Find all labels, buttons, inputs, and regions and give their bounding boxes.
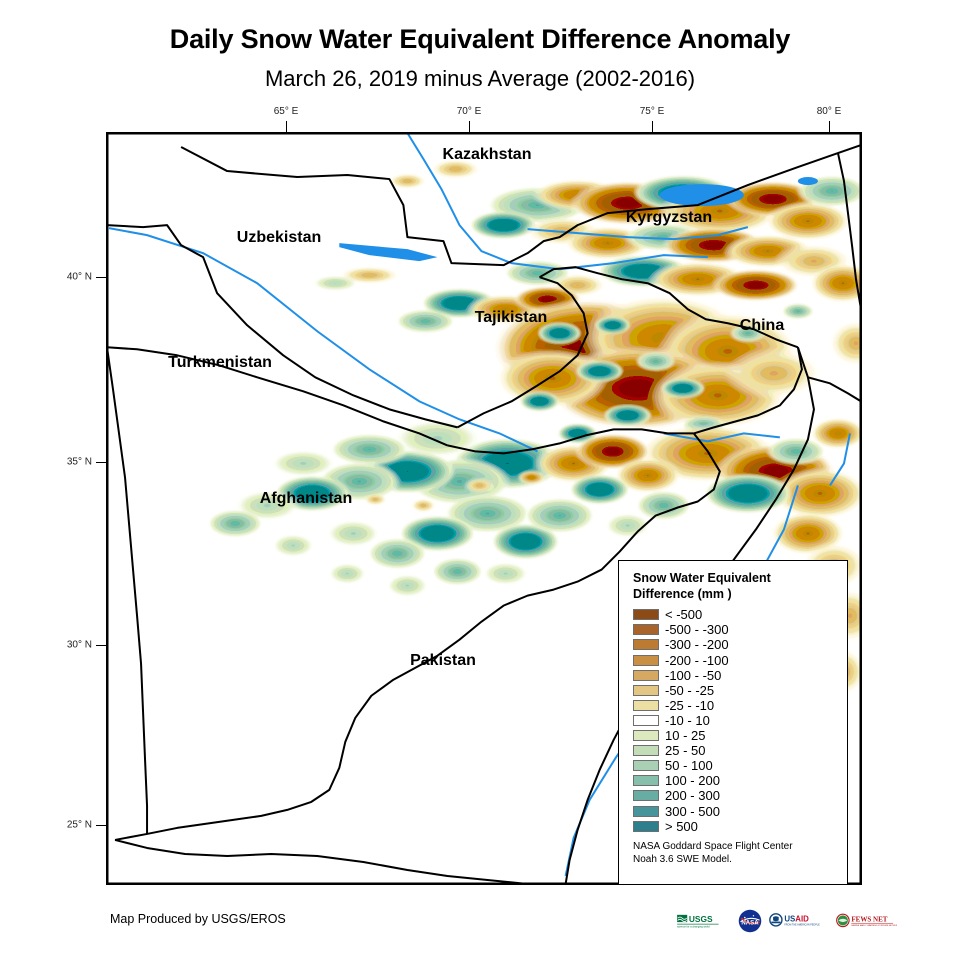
lat-tick-30 bbox=[96, 645, 107, 646]
legend-row: 10 - 25 bbox=[633, 728, 837, 743]
lon-tick-70 bbox=[469, 121, 470, 132]
legend-row: -200 - -100 bbox=[633, 653, 837, 668]
legend-row: -50 - -25 bbox=[633, 683, 837, 698]
legend-label: -200 - -100 bbox=[665, 653, 729, 668]
legend-title-line2: Difference (mm ) bbox=[633, 587, 837, 603]
legend-swatch bbox=[633, 806, 659, 817]
legend-row: 200 - 300 bbox=[633, 788, 837, 803]
lat-label-35: 35° N bbox=[56, 457, 92, 468]
legend-swatch bbox=[633, 715, 659, 726]
legend-label: 10 - 25 bbox=[665, 728, 705, 743]
legend-label: 200 - 300 bbox=[665, 788, 720, 803]
map-legend: Snow Water Equivalent Difference (mm ) <… bbox=[618, 560, 848, 885]
usgs-logo: USGS science for a changing world bbox=[676, 908, 732, 934]
nasa-logo: NASA bbox=[737, 908, 763, 934]
legend-label: -25 - -10 bbox=[665, 698, 714, 713]
legend-swatch bbox=[633, 639, 659, 650]
legend-swatch bbox=[633, 624, 659, 635]
usaid-logo: USAID FROM THE AMERICAN PEOPLE bbox=[768, 908, 830, 934]
svg-text:USGS: USGS bbox=[689, 914, 713, 924]
svg-text:FAMINE EARLY WARNING SYSTEMS N: FAMINE EARLY WARNING SYSTEMS NETWORK bbox=[851, 924, 897, 927]
map-page: Daily Snow Water Equivalent Difference A… bbox=[0, 0, 960, 960]
legend-label: -500 - -300 bbox=[665, 622, 729, 637]
legend-label: 50 - 100 bbox=[665, 758, 713, 773]
legend-swatch bbox=[633, 685, 659, 696]
legend-label: 100 - 200 bbox=[665, 773, 720, 788]
legend-label: > 500 bbox=[665, 819, 698, 834]
lon-label-70: 70° E bbox=[457, 106, 482, 117]
legend-row: 50 - 100 bbox=[633, 758, 837, 773]
legend-label: -10 - 10 bbox=[665, 713, 710, 728]
lon-label-65: 65° E bbox=[274, 106, 299, 117]
legend-label: -50 - -25 bbox=[665, 683, 714, 698]
legend-source-line1: NASA Goddard Space Flight Center bbox=[633, 840, 837, 854]
legend-title-line1: Snow Water Equivalent bbox=[633, 571, 837, 587]
legend-class-list: < -500-500 - -300-300 - -200-200 - -100-… bbox=[633, 607, 837, 833]
legend-label: -100 - -50 bbox=[665, 668, 721, 683]
legend-swatch bbox=[633, 700, 659, 711]
legend-swatch bbox=[633, 775, 659, 786]
svg-text:FEWS NET: FEWS NET bbox=[851, 916, 887, 924]
page-subtitle: March 26, 2019 minus Average (2002-2016) bbox=[0, 66, 960, 92]
legend-swatch bbox=[633, 745, 659, 756]
lon-tick-65 bbox=[286, 121, 287, 132]
footer-credit: Map Produced by USGS/EROS bbox=[110, 912, 286, 926]
legend-row: 100 - 200 bbox=[633, 773, 837, 788]
legend-row: -10 - 10 bbox=[633, 713, 837, 728]
legend-swatch bbox=[633, 730, 659, 741]
legend-row: > 500 bbox=[633, 819, 837, 834]
lat-tick-35 bbox=[96, 462, 107, 463]
legend-label: 300 - 500 bbox=[665, 804, 720, 819]
legend-label: 25 - 50 bbox=[665, 743, 705, 758]
svg-text:FROM THE AMERICAN PEOPLE: FROM THE AMERICAN PEOPLE bbox=[784, 924, 820, 927]
lon-tick-75 bbox=[652, 121, 653, 132]
svg-text:science for a changing world: science for a changing world bbox=[677, 925, 710, 929]
legend-row: -25 - -10 bbox=[633, 698, 837, 713]
lat-label-25: 25° N bbox=[56, 820, 92, 831]
legend-label: < -500 bbox=[665, 607, 702, 622]
legend-source-line2: Noah 3.6 SWE Model. bbox=[633, 853, 837, 867]
fewsnet-logo: FEWS NET FAMINE EARLY WARNING SYSTEMS NE… bbox=[835, 908, 897, 934]
lon-label-75: 75° E bbox=[640, 106, 665, 117]
lat-label-30: 30° N bbox=[56, 640, 92, 651]
svg-text:NASA: NASA bbox=[741, 920, 759, 926]
legend-swatch bbox=[633, 655, 659, 666]
legend-swatch bbox=[633, 790, 659, 801]
legend-row: < -500 bbox=[633, 607, 837, 622]
legend-label: -300 - -200 bbox=[665, 637, 729, 652]
lat-tick-25 bbox=[96, 825, 107, 826]
legend-row: -300 - -200 bbox=[633, 637, 837, 652]
legend-title: Snow Water Equivalent Difference (mm ) bbox=[633, 571, 837, 602]
lat-tick-40 bbox=[96, 277, 107, 278]
legend-swatch bbox=[633, 760, 659, 771]
lon-label-80: 80° E bbox=[817, 106, 842, 117]
legend-row: 25 - 50 bbox=[633, 743, 837, 758]
lat-label-40: 40° N bbox=[56, 272, 92, 283]
lon-tick-80 bbox=[829, 121, 830, 132]
legend-row: 300 - 500 bbox=[633, 803, 837, 818]
legend-swatch bbox=[633, 609, 659, 620]
page-title: Daily Snow Water Equivalent Difference A… bbox=[0, 24, 960, 55]
legend-source: NASA Goddard Space Flight Center Noah 3.… bbox=[633, 840, 837, 867]
legend-swatch bbox=[633, 670, 659, 681]
svg-text:USAID: USAID bbox=[784, 915, 809, 924]
legend-row: -500 - -300 bbox=[633, 622, 837, 637]
partner-logos: USGS science for a changing world NASA U… bbox=[676, 906, 897, 936]
legend-swatch bbox=[633, 821, 659, 832]
legend-row: -100 - -50 bbox=[633, 668, 837, 683]
